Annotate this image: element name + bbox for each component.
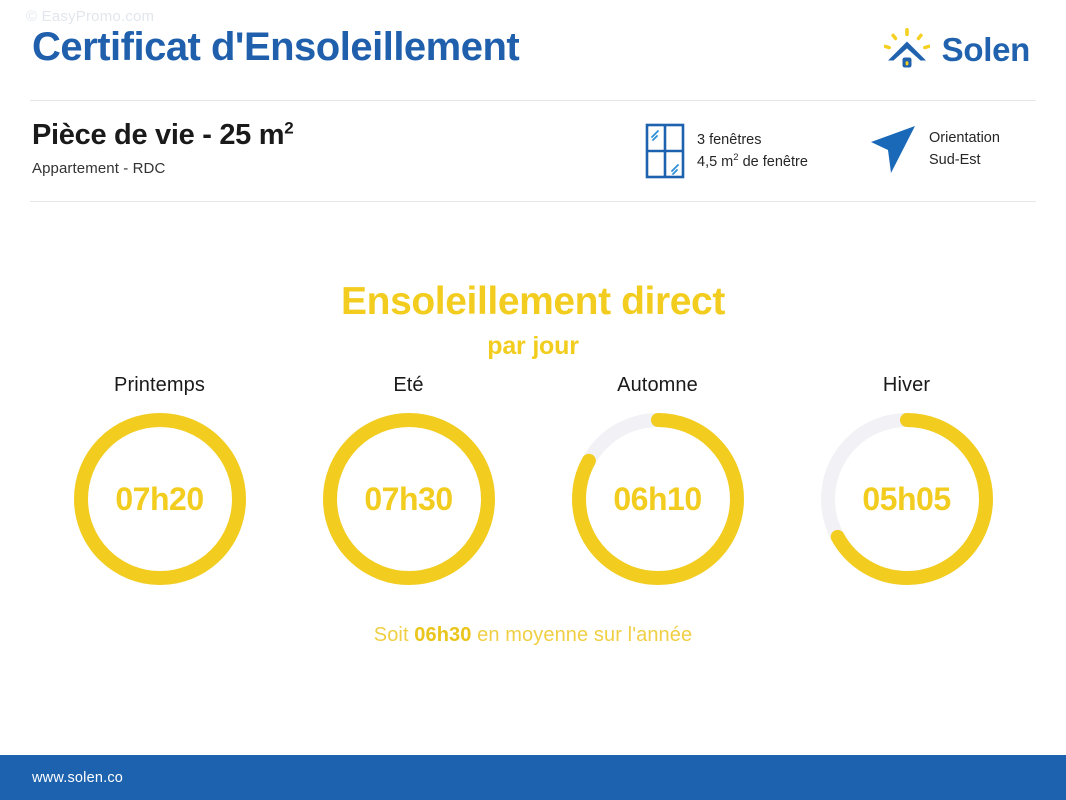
room-name-text: Pièce de vie - 25 m (32, 119, 284, 151)
footer-website-url[interactable]: www.solen.co (32, 770, 123, 786)
season-gauge-value: 05h05 (818, 410, 996, 588)
windows-area-after: de fenêtre (739, 154, 808, 170)
windows-fact: 3 fenêtres 4,5 m2 de fenêtre (645, 123, 808, 179)
average-prefix: Soit (374, 624, 415, 646)
average-suffix: en moyenne sur l'année (472, 624, 693, 646)
sunlight-section: Ensoleillement direct par jour Printemps… (0, 202, 1066, 742)
annual-average-note: Soit 06h30 en moyenne sur l'année (0, 624, 1066, 647)
window-icon (645, 123, 685, 179)
sunlight-subtitle: par jour (0, 332, 1066, 361)
season-gauge: Hiver 05h05 (818, 374, 996, 588)
room-summary: Pièce de vie - 25 m2 Appartement - RDC (32, 119, 293, 177)
page-title: Certificat d'Ensoleillement (32, 25, 519, 70)
average-value: 06h30 (414, 624, 471, 646)
sun-house-logo-icon (884, 27, 930, 73)
season-gauge: Printemps 07h20 (71, 374, 249, 588)
season-gauge-label: Automne (617, 374, 698, 397)
season-gauge-value: 07h20 (71, 410, 249, 588)
room-info-band: Pièce de vie - 25 m2 Appartement - RDC 3… (0, 101, 1066, 201)
season-gauge-ring: 05h05 (818, 410, 996, 588)
room-area-exponent: 2 (284, 118, 293, 137)
season-gauge: Automne 06h10 (569, 374, 747, 588)
brand-name: Solen (942, 31, 1030, 69)
season-gauge-label: Eté (393, 374, 423, 397)
orientation-label: Orientation (929, 127, 1000, 149)
certificate-page: © EasyPromo.com Certificat d'Ensoleillem… (0, 0, 1066, 800)
room-subtitle: Appartement - RDC (32, 160, 293, 177)
season-gauge-label: Hiver (883, 374, 930, 397)
windows-area: 4,5 m2 de fenêtre (697, 151, 808, 173)
season-gauge-value: 07h30 (320, 410, 498, 588)
compass-arrow-icon (869, 123, 917, 175)
orientation-fact-text: Orientation Sud-Est (929, 127, 1000, 172)
brand-logo: Solen (884, 27, 1030, 73)
page-footer: www.solen.co (0, 755, 1066, 800)
season-gauge-group: Printemps 07h20 Eté 07h30 (0, 374, 1066, 588)
orientation-value: Sud-Est (929, 149, 1000, 171)
sunlight-title: Ensoleillement direct (0, 280, 1066, 324)
windows-fact-text: 3 fenêtres 4,5 m2 de fenêtre (697, 129, 808, 174)
page-header: Certificat d'Ensoleillement Solen (0, 0, 1066, 100)
windows-count: 3 fenêtres (697, 129, 808, 151)
season-gauge-label: Printemps (114, 374, 205, 397)
season-gauge-value: 06h10 (569, 410, 747, 588)
windows-area-before: 4,5 m (697, 154, 733, 170)
season-gauge-ring: 07h20 (71, 410, 249, 588)
season-gauge-ring: 07h30 (320, 410, 498, 588)
season-gauge-ring: 06h10 (569, 410, 747, 588)
season-gauge: Eté 07h30 (320, 374, 498, 588)
orientation-fact: Orientation Sud-Est (869, 123, 1000, 175)
room-name: Pièce de vie - 25 m2 (32, 119, 293, 152)
